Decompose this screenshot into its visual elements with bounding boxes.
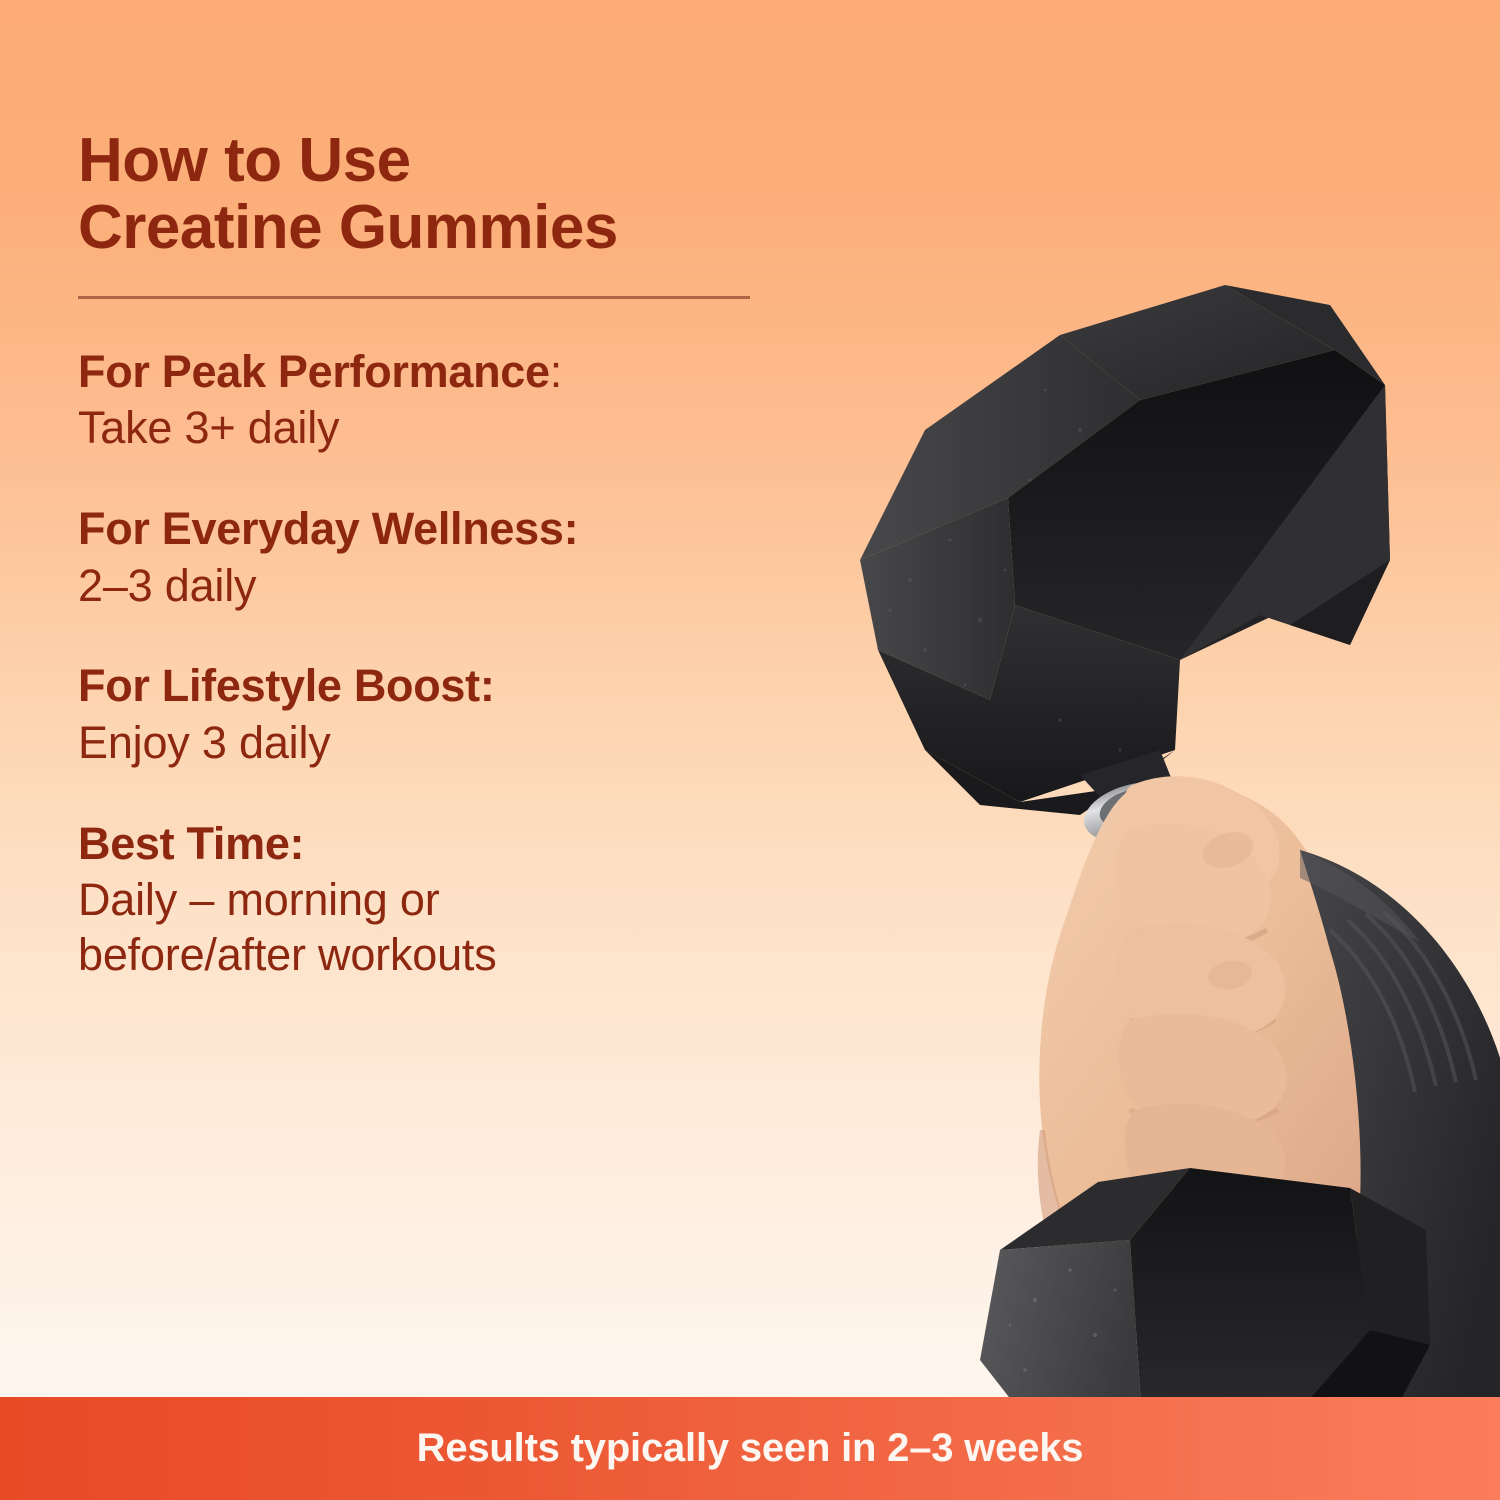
usage-body: 2–3 daily [78,559,878,614]
usage-body: Daily – morning or before/after workouts [78,873,878,983]
dumbbell-upper-head [860,285,1390,815]
usage-heading: Best Time: [78,819,878,869]
usage-heading: For Lifestyle Boost: [78,661,878,711]
results-banner: Results typically seen in 2–3 weeks [0,1397,1500,1500]
results-banner-text: Results typically seen in 2–3 weeks [417,1426,1084,1471]
usage-body: Enjoy 3 daily [78,716,878,771]
title-divider [78,296,750,299]
hand-holding-dumbbell-photo [830,230,1500,1410]
usage-block-best-time: Best Time: Daily – morning or before/aft… [78,819,878,983]
usage-heading: For Everyday Wellness: [78,504,878,554]
usage-block-everyday-wellness: For Everyday Wellness: 2–3 daily [78,504,878,613]
content-column: How to Use Creatine Gummies For Peak Per… [78,128,878,983]
usage-block-peak-performance: For Peak Performance: Take 3+ daily [78,347,878,456]
usage-body: Take 3+ daily [78,401,878,456]
usage-block-lifestyle-boost: For Lifestyle Boost: Enjoy 3 daily [78,661,878,770]
promo-card: How to Use Creatine Gummies For Peak Per… [0,0,1500,1500]
page-title: How to Use Creatine Gummies [78,128,878,262]
usage-heading-colon: : [550,346,562,397]
usage-heading: For Peak Performance: [78,347,878,397]
